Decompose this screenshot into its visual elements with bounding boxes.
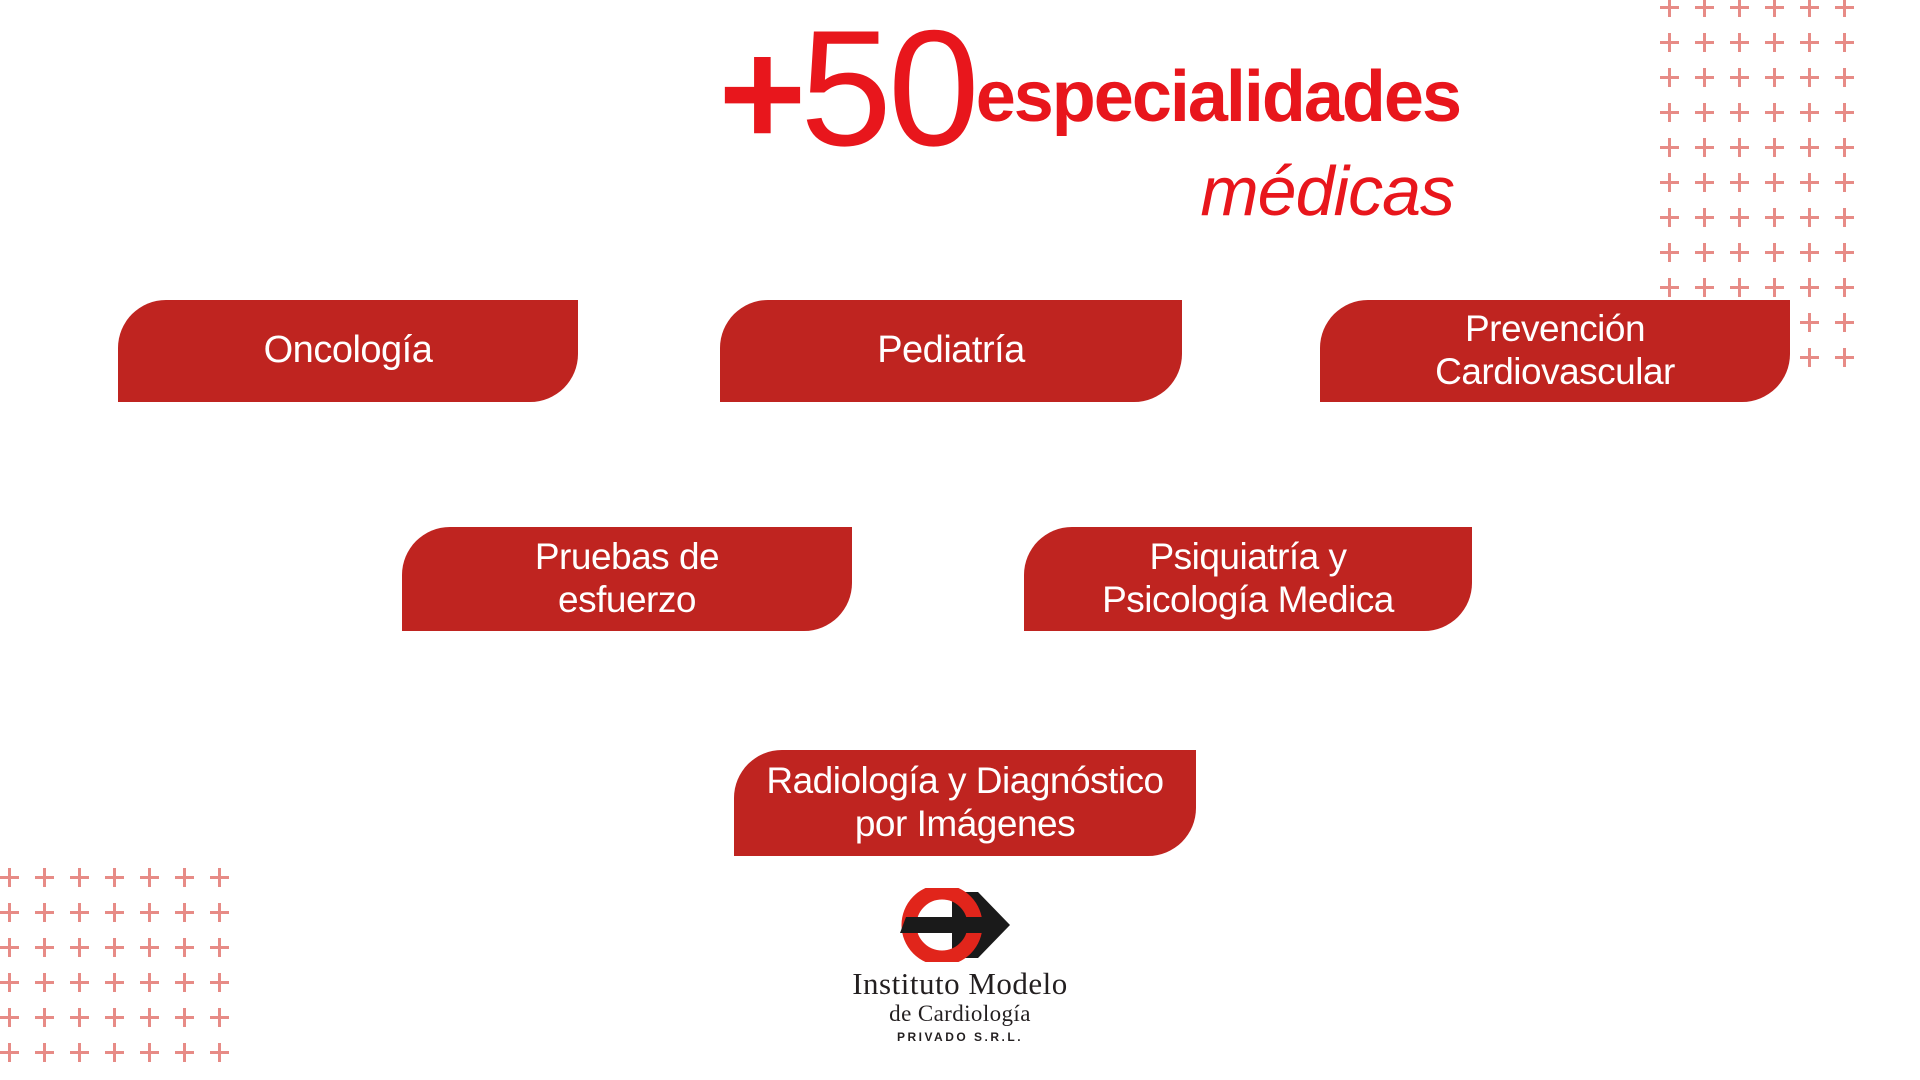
specialty-pill-prevencion-cardiovascular[interactable]: Prevención Cardiovascular [1320, 300, 1790, 402]
headline-plus-sign: + [719, 9, 801, 177]
specialty-label: Prevención Cardiovascular [1435, 308, 1675, 393]
specialty-pill-pruebas-de-esfuerzo[interactable]: Pruebas de esfuerzo [402, 527, 852, 631]
specialty-label: Radiología y Diagnóstico por Imágenes [766, 760, 1163, 845]
plus-pattern-bottom-left [0, 868, 230, 1068]
headline-word: especialidades [976, 57, 1460, 137]
specialty-pill-oncologia[interactable]: Oncología [118, 300, 578, 402]
specialty-label: Psiquiatría y Psicología Medica [1102, 536, 1394, 621]
logo: Instituto Modelo de Cardiología PRIVADO … [820, 888, 1100, 1044]
headline-line-1: +50especialidades [0, 6, 1460, 171]
specialty-pill-psiquiatria-psicologia[interactable]: Psiquiatría y Psicología Medica [1024, 527, 1472, 631]
specialty-pill-radiologia-diagnostico[interactable]: Radiología y Diagnóstico por Imágenes [734, 750, 1196, 856]
specialty-label: Pruebas de esfuerzo [535, 536, 719, 621]
instituto-modelo-cardiologia-logo-icon [870, 888, 1050, 962]
headline-number: 50 [800, 0, 976, 180]
logo-line-2: de Cardiología [820, 1001, 1100, 1027]
specialty-label: Oncología [264, 329, 433, 373]
specialty-pill-pediatria[interactable]: Pediatría [720, 300, 1182, 402]
headline: +50especialidades médicas [0, 6, 1460, 230]
logo-line-1: Instituto Modelo [820, 968, 1100, 1001]
logo-line-3: PRIVADO S.R.L. [820, 1030, 1100, 1044]
specialty-label: Pediatría [877, 329, 1025, 373]
slide-canvas: +50especialidades médicas Oncología Pedi… [0, 0, 1920, 1080]
